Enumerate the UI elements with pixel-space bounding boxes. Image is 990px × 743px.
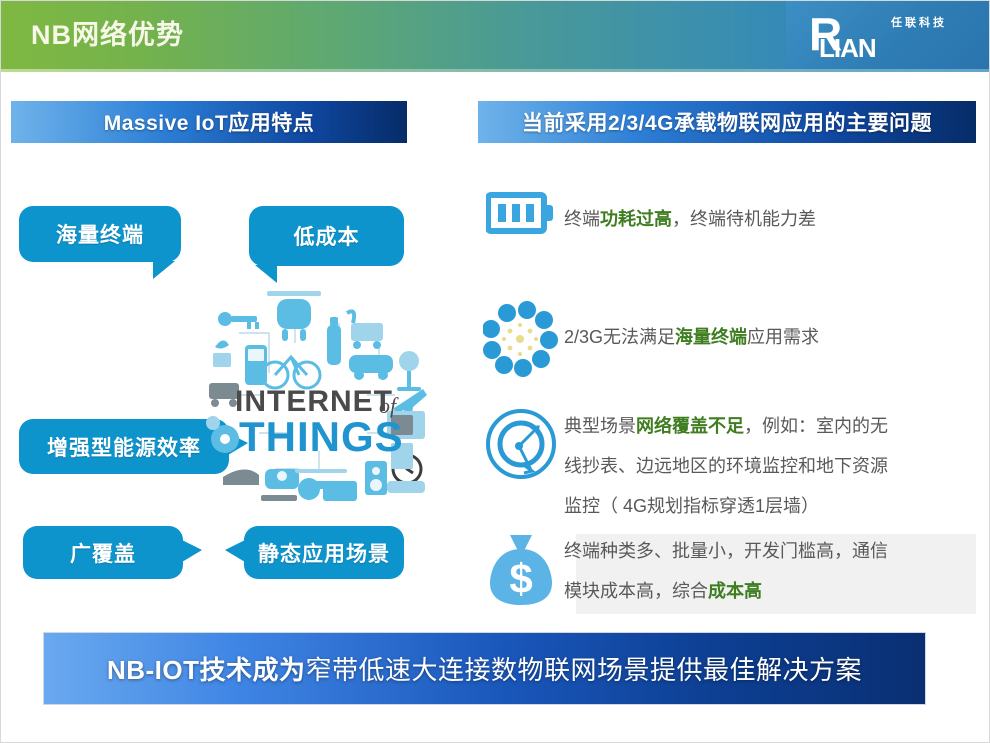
bubble-label: 静态应用场景 bbox=[258, 538, 390, 568]
problem-text-line3: 监控（ 4G规划指标穿透1层墙） bbox=[564, 486, 888, 526]
bubble-tail bbox=[255, 265, 277, 283]
problem-item-capacity: 2/3G无法满足海量终端应用需求 bbox=[478, 301, 978, 387]
internet-of-things-graphic: INTERNET of THINGS bbox=[199, 283, 427, 501]
problem-highlight: 功耗过高 bbox=[600, 209, 672, 229]
bubble-wide-coverage: 广覆盖 bbox=[23, 526, 183, 579]
problem-item-coverage: 典型场景网络覆盖不足，例如：室内的无 线抄表、边远地区的环境监控和地下资源 监控… bbox=[478, 406, 978, 516]
bubble-massive-terminals: 海量终端 bbox=[19, 206, 181, 262]
logo-chinese-name: 任联科技 bbox=[891, 17, 947, 29]
problem-text: 终端种类多、批量小，开发门槛高，通信 模块成本高，综合成本高 bbox=[564, 531, 888, 611]
bubble-label: 海量终端 bbox=[56, 219, 144, 249]
problem-highlight: 成本高 bbox=[708, 581, 762, 601]
bubble-enhanced-energy-efficiency: 增强型能源效率 bbox=[19, 419, 229, 474]
right-section-title-bar: 当前采用2/3/4G承载物联网应用的主要问题 bbox=[478, 101, 976, 143]
logo-wordmark: LIAN bbox=[819, 35, 876, 61]
svg-text:$: $ bbox=[509, 555, 532, 602]
problem-text-part: 2/3G无法满足 bbox=[564, 327, 675, 347]
money-bag-icon: $ bbox=[478, 531, 564, 607]
bubble-low-cost: 低成本 bbox=[249, 206, 404, 266]
problem-highlight: 海量终端 bbox=[675, 327, 747, 347]
left-section-title: Massive IoT应用特点 bbox=[104, 107, 315, 137]
problem-text-part: ，终端待机能力差 bbox=[672, 209, 816, 229]
problem-text: 典型场景网络覆盖不足，例如：室内的无 线抄表、边远地区的环境监控和地下资源 监控… bbox=[564, 406, 888, 526]
problem-text-part: 应用需求 bbox=[747, 327, 819, 347]
conclusion-banner: NB-IOT技术成为窄带低速大连接数物联网场景提供最佳解决方案 bbox=[43, 632, 926, 705]
bubble-label: 增强型能源效率 bbox=[47, 432, 201, 462]
problem-text: 2/3G无法满足海量终端应用需求 bbox=[564, 301, 819, 357]
problem-text-line2: 线抄表、边远地区的环境监控和地下资源 bbox=[564, 446, 888, 486]
conclusion-normal: 窄带低速大连接数物联网场景提供最佳解决方案 bbox=[306, 650, 863, 687]
problem-item-power: 终端功耗过高，终端待机能力差 bbox=[478, 191, 978, 261]
iot-cluster-icon bbox=[478, 301, 564, 377]
coverage-target-icon bbox=[478, 406, 564, 482]
left-section-title-bar: Massive IoT应用特点 bbox=[11, 101, 407, 143]
header-underline bbox=[1, 69, 990, 72]
right-section-title: 当前采用2/3/4G承载物联网应用的主要问题 bbox=[522, 107, 932, 137]
svg-text:THINGS: THINGS bbox=[239, 413, 404, 460]
bubble-static-scenarios: 静态应用场景 bbox=[244, 526, 404, 579]
conclusion-bold: NB-IOT技术成为 bbox=[107, 650, 306, 687]
bubble-tail bbox=[153, 261, 175, 279]
problem-item-cost: $ 终端种类多、批量小，开发门槛高，通信 模块成本高，综合成本高 bbox=[478, 531, 978, 617]
problem-text: 终端功耗过高，终端待机能力差 bbox=[564, 191, 816, 239]
bubble-label: 低成本 bbox=[294, 221, 360, 251]
company-logo: R LIAN 任联科技 bbox=[786, 1, 990, 69]
bubble-label: 广覆盖 bbox=[70, 538, 136, 568]
problem-text-part: 终端 bbox=[564, 209, 600, 229]
battery-icon bbox=[478, 191, 564, 235]
slide: NB网络优势 R LIAN 任联科技 Massive IoT应用特点 当前采用2… bbox=[0, 0, 990, 743]
problem-text-line1: 终端种类多、批量小，开发门槛高，通信 bbox=[564, 531, 888, 571]
problem-text-part: ，例如：室内的无 bbox=[744, 416, 888, 436]
problem-text-part: 典型场景 bbox=[564, 416, 636, 436]
bubble-tail bbox=[225, 540, 245, 562]
page-title: NB网络优势 bbox=[31, 18, 184, 52]
slide-header: NB网络优势 R LIAN 任联科技 bbox=[1, 1, 990, 69]
bubble-tail bbox=[182, 540, 202, 562]
problem-highlight: 网络覆盖不足 bbox=[636, 416, 744, 436]
problem-text-part: 模块成本高，综合 bbox=[564, 581, 708, 601]
